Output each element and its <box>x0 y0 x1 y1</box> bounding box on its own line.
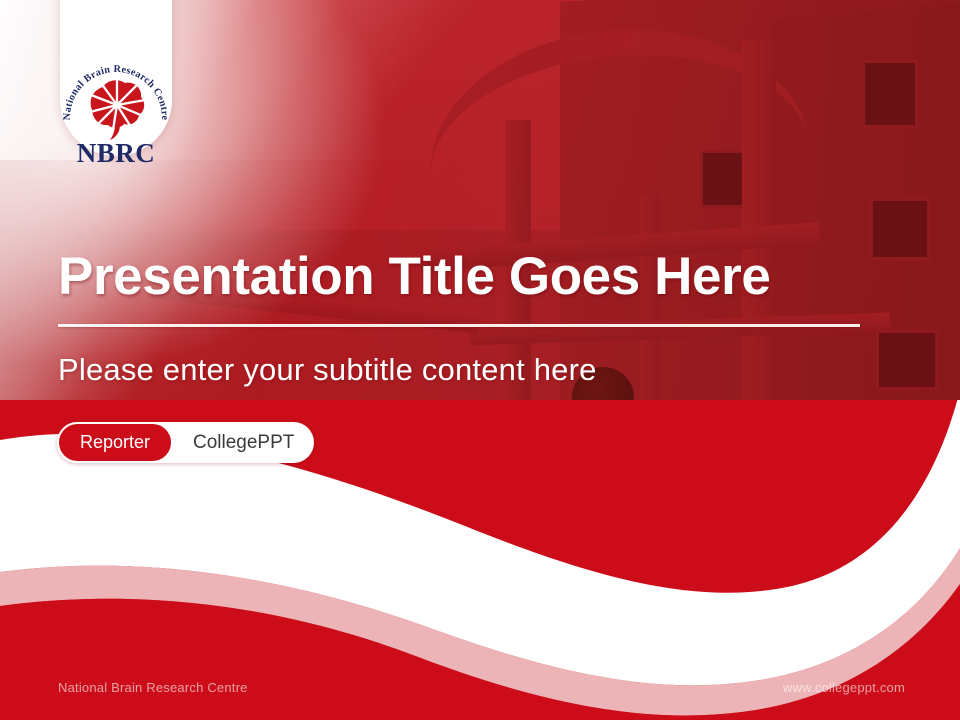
footer-organisation: National Brain Research Centre <box>58 680 248 695</box>
page-subtitle: Please enter your subtitle content here <box>58 352 597 388</box>
title-divider-rule <box>58 324 860 327</box>
page-title: Presentation Title Goes Here <box>58 249 918 305</box>
presentation-title-slide: National Brain Research Centre <box>0 0 960 720</box>
brain-icon <box>90 80 145 140</box>
footer-website[interactable]: www.collegeppt.com <box>783 680 905 695</box>
reporter-pill[interactable]: Reporter CollegePPT <box>57 422 314 463</box>
logo-acronym: NBRC <box>77 138 156 168</box>
reporter-label: Reporter <box>57 422 173 463</box>
nbrc-logo: National Brain Research Centre <box>60 52 172 170</box>
reporter-value: CollegePPT <box>173 432 294 454</box>
